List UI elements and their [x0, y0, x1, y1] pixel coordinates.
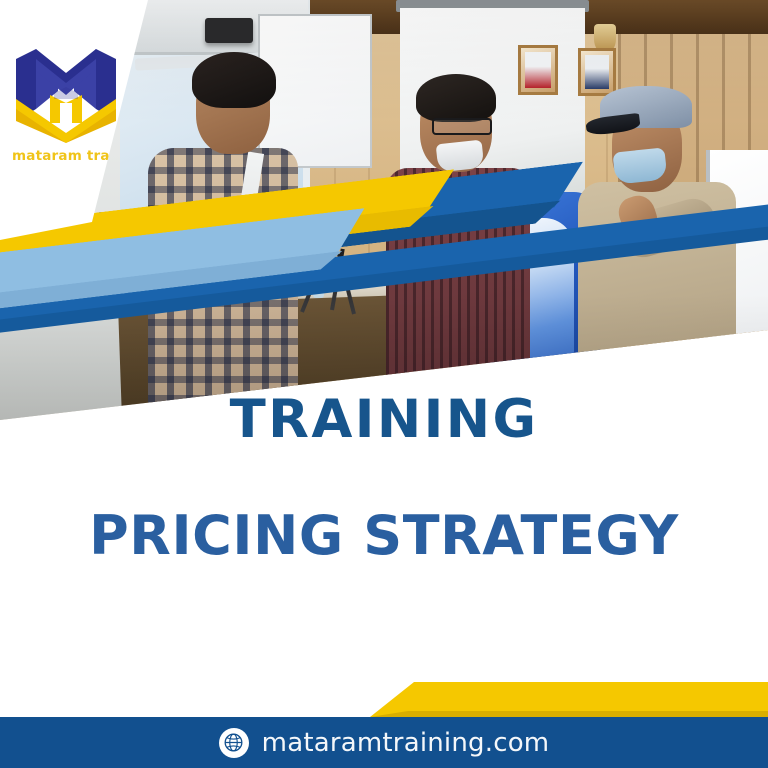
- globe-icon: [219, 728, 249, 758]
- footer-bar: mataramtraining.com: [0, 717, 768, 768]
- footer-content: mataramtraining.com: [219, 728, 550, 758]
- page-title: PRICING STRATEGY: [0, 508, 768, 565]
- mataram-m-logo-icon: [14, 47, 118, 143]
- website-url[interactable]: mataramtraining.com: [262, 728, 550, 758]
- poster-canvas: mataram training TRAINING PRICING STRATE…: [0, 0, 768, 768]
- page-title-eyebrow: TRAINING: [0, 392, 768, 448]
- title-block: TRAINING PRICING STRATEGY: [0, 392, 768, 564]
